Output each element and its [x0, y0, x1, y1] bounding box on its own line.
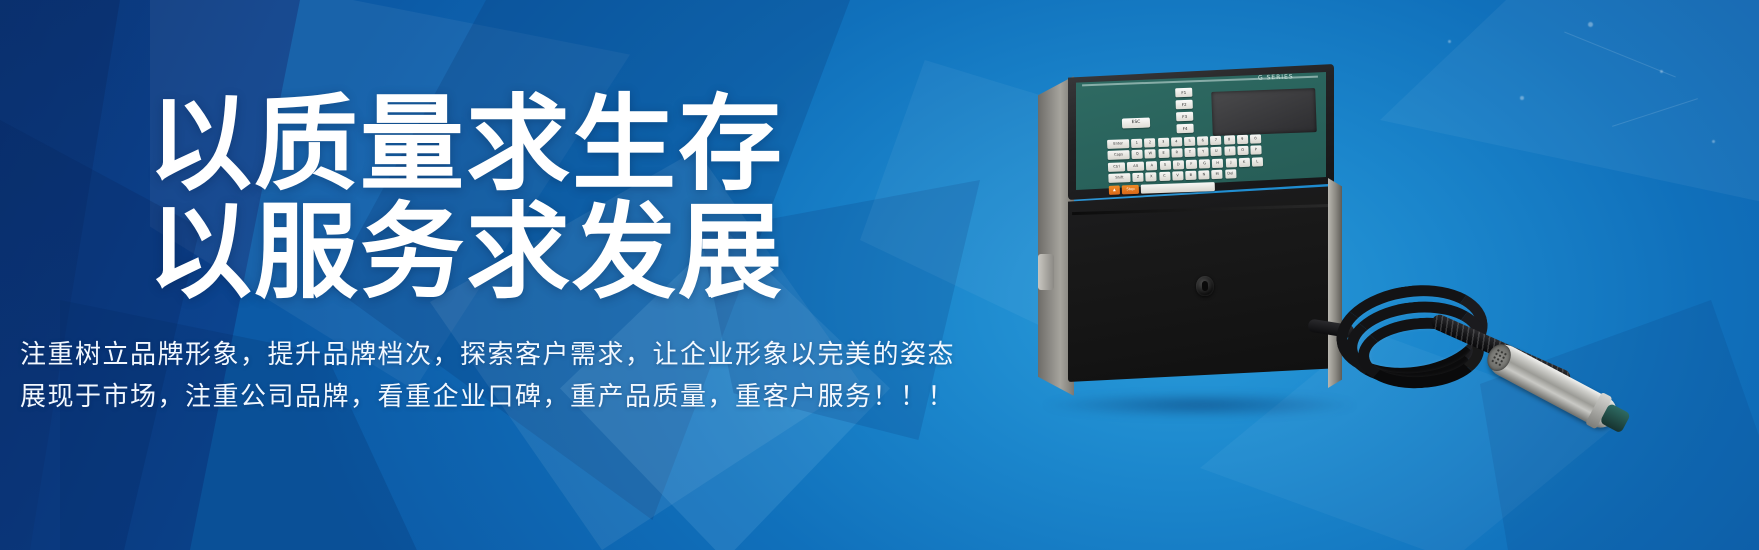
key-e[interactable]: E	[1158, 149, 1169, 158]
key-n[interactable]: N	[1198, 170, 1209, 179]
key-alt[interactable]: Alt	[1127, 161, 1144, 171]
stop-key[interactable]: Stop	[1122, 184, 1139, 194]
function-key-f1[interactable]: F1	[1175, 88, 1192, 98]
key-d[interactable]: D	[1173, 160, 1184, 169]
key-6[interactable]: 6	[1197, 136, 1208, 145]
key-2[interactable]: 2	[1144, 138, 1155, 147]
key-a[interactable]: A	[1146, 161, 1157, 170]
key-7[interactable]: 7	[1210, 136, 1221, 145]
key-m[interactable]: M	[1212, 170, 1223, 179]
key-8[interactable]: 8	[1223, 135, 1234, 144]
start-key[interactable]: ▲	[1109, 185, 1120, 194]
key-t[interactable]: T	[1184, 148, 1195, 157]
printer-display-screen	[1211, 88, 1317, 136]
key-enter[interactable]: Enter	[1107, 139, 1129, 149]
headline-line-1: 以质量求生存	[148, 92, 784, 196]
printer-umbilical-assembly	[1330, 276, 1630, 486]
key-space[interactable]	[1141, 182, 1215, 194]
sparkle-dot	[1520, 96, 1524, 100]
key-4[interactable]: 4	[1171, 137, 1182, 146]
key-z[interactable]: Z	[1132, 173, 1143, 182]
key-i[interactable]: I	[1224, 147, 1235, 156]
key-x[interactable]: X	[1146, 172, 1157, 181]
key-o[interactable]: O	[1237, 146, 1248, 155]
key-ctrl[interactable]: Ctrl	[1108, 162, 1125, 172]
key-9[interactable]: 9	[1237, 135, 1248, 144]
key-h[interactable]: H	[1212, 158, 1223, 167]
headline-line-2: 以服务求发展	[148, 200, 784, 304]
subtitle-line-2: 展现于市场，注重公司品牌，看重企业口碑，重产品质量，重客户服务！！！	[20, 376, 955, 413]
key-caps[interactable]: Caps	[1107, 151, 1129, 161]
printer-door-latch[interactable]	[1196, 276, 1215, 297]
key-c[interactable]: C	[1159, 172, 1170, 181]
background-shard-8	[1380, 0, 1759, 300]
promotional-banner: 以质量求生存 以服务求发展 注重树立品牌形象，提升品牌档次，探索客户需求，让企业…	[0, 0, 1759, 550]
sparkle-dot	[1712, 140, 1715, 143]
sparkle-line	[1564, 32, 1676, 78]
subtitle-line-1: 注重树立品牌形象，提升品牌档次，探索客户需求，让企业形象以完美的姿态	[20, 334, 955, 371]
printer-brand-label: G SERIES	[1258, 73, 1294, 81]
print-head-nozzle	[1483, 339, 1630, 439]
key-del[interactable]: Del	[1225, 169, 1236, 178]
key-q[interactable]: Q	[1132, 150, 1143, 159]
key-r[interactable]: R	[1171, 149, 1182, 158]
key-g[interactable]: G	[1199, 159, 1210, 168]
sparkle-line	[1612, 98, 1698, 127]
key-shift[interactable]: Shift	[1108, 173, 1130, 183]
esc-key[interactable]: ESC	[1122, 117, 1150, 128]
function-key-f3[interactable]: F3	[1176, 112, 1193, 122]
key-y[interactable]: Y	[1198, 148, 1209, 157]
key-j[interactable]: J	[1225, 158, 1236, 167]
key-s[interactable]: S	[1159, 160, 1170, 169]
key-p[interactable]: P	[1250, 146, 1261, 155]
sparkle-dot	[1448, 40, 1451, 43]
function-key-f4[interactable]: F4	[1176, 124, 1193, 134]
function-key-group: F1 F2 F3 F4	[1175, 88, 1194, 137]
key-1[interactable]: 1	[1131, 139, 1142, 148]
key-v[interactable]: V	[1172, 171, 1183, 180]
key-3[interactable]: 3	[1158, 138, 1169, 147]
printer-keyboard: Enter 1 2 3 4 5 6 7 8 9 0 Caps Q W E R T…	[1107, 132, 1323, 197]
key-w[interactable]: W	[1145, 150, 1156, 159]
key-u[interactable]: U	[1211, 147, 1222, 156]
function-key-f2[interactable]: F2	[1176, 100, 1193, 110]
sparkle-dot	[1588, 22, 1593, 27]
key-b[interactable]: B	[1185, 171, 1196, 180]
key-l[interactable]: L	[1252, 157, 1263, 166]
key-5[interactable]: 5	[1184, 137, 1195, 146]
inkjet-printer-product: G SERIES F1 F2 F3 F4 ESC Enter 1 2 3 4 5…	[1018, 58, 1348, 408]
key-0[interactable]: 0	[1250, 134, 1261, 143]
banner-copy: 以质量求生存 以服务求发展 注重树立品牌形象，提升品牌档次，探索客户需求，让企业…	[0, 0, 1000, 550]
printer-hinge	[1038, 254, 1054, 290]
key-f[interactable]: F	[1186, 159, 1197, 168]
key-k[interactable]: K	[1238, 158, 1249, 167]
